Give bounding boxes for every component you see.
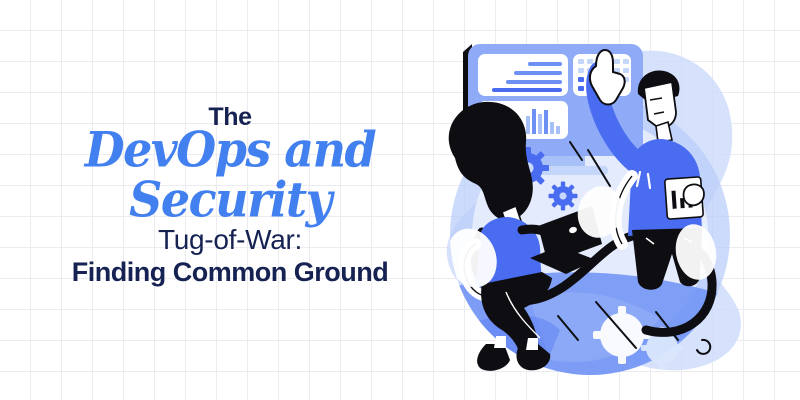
dashboard-panel-lines <box>478 54 568 96</box>
headline-block: The DevOps and Security Tug-of-War: Find… <box>20 104 440 289</box>
gear-small <box>549 182 578 211</box>
headline-line-tug: Tug-of-War: <box>20 223 440 256</box>
illustration <box>410 0 800 400</box>
banner-root: The DevOps and Security Tug-of-War: Find… <box>0 0 800 400</box>
headline-line-finding: Finding Common Ground <box>20 257 440 289</box>
headline-line-script: DevOps and Security <box>20 125 440 224</box>
